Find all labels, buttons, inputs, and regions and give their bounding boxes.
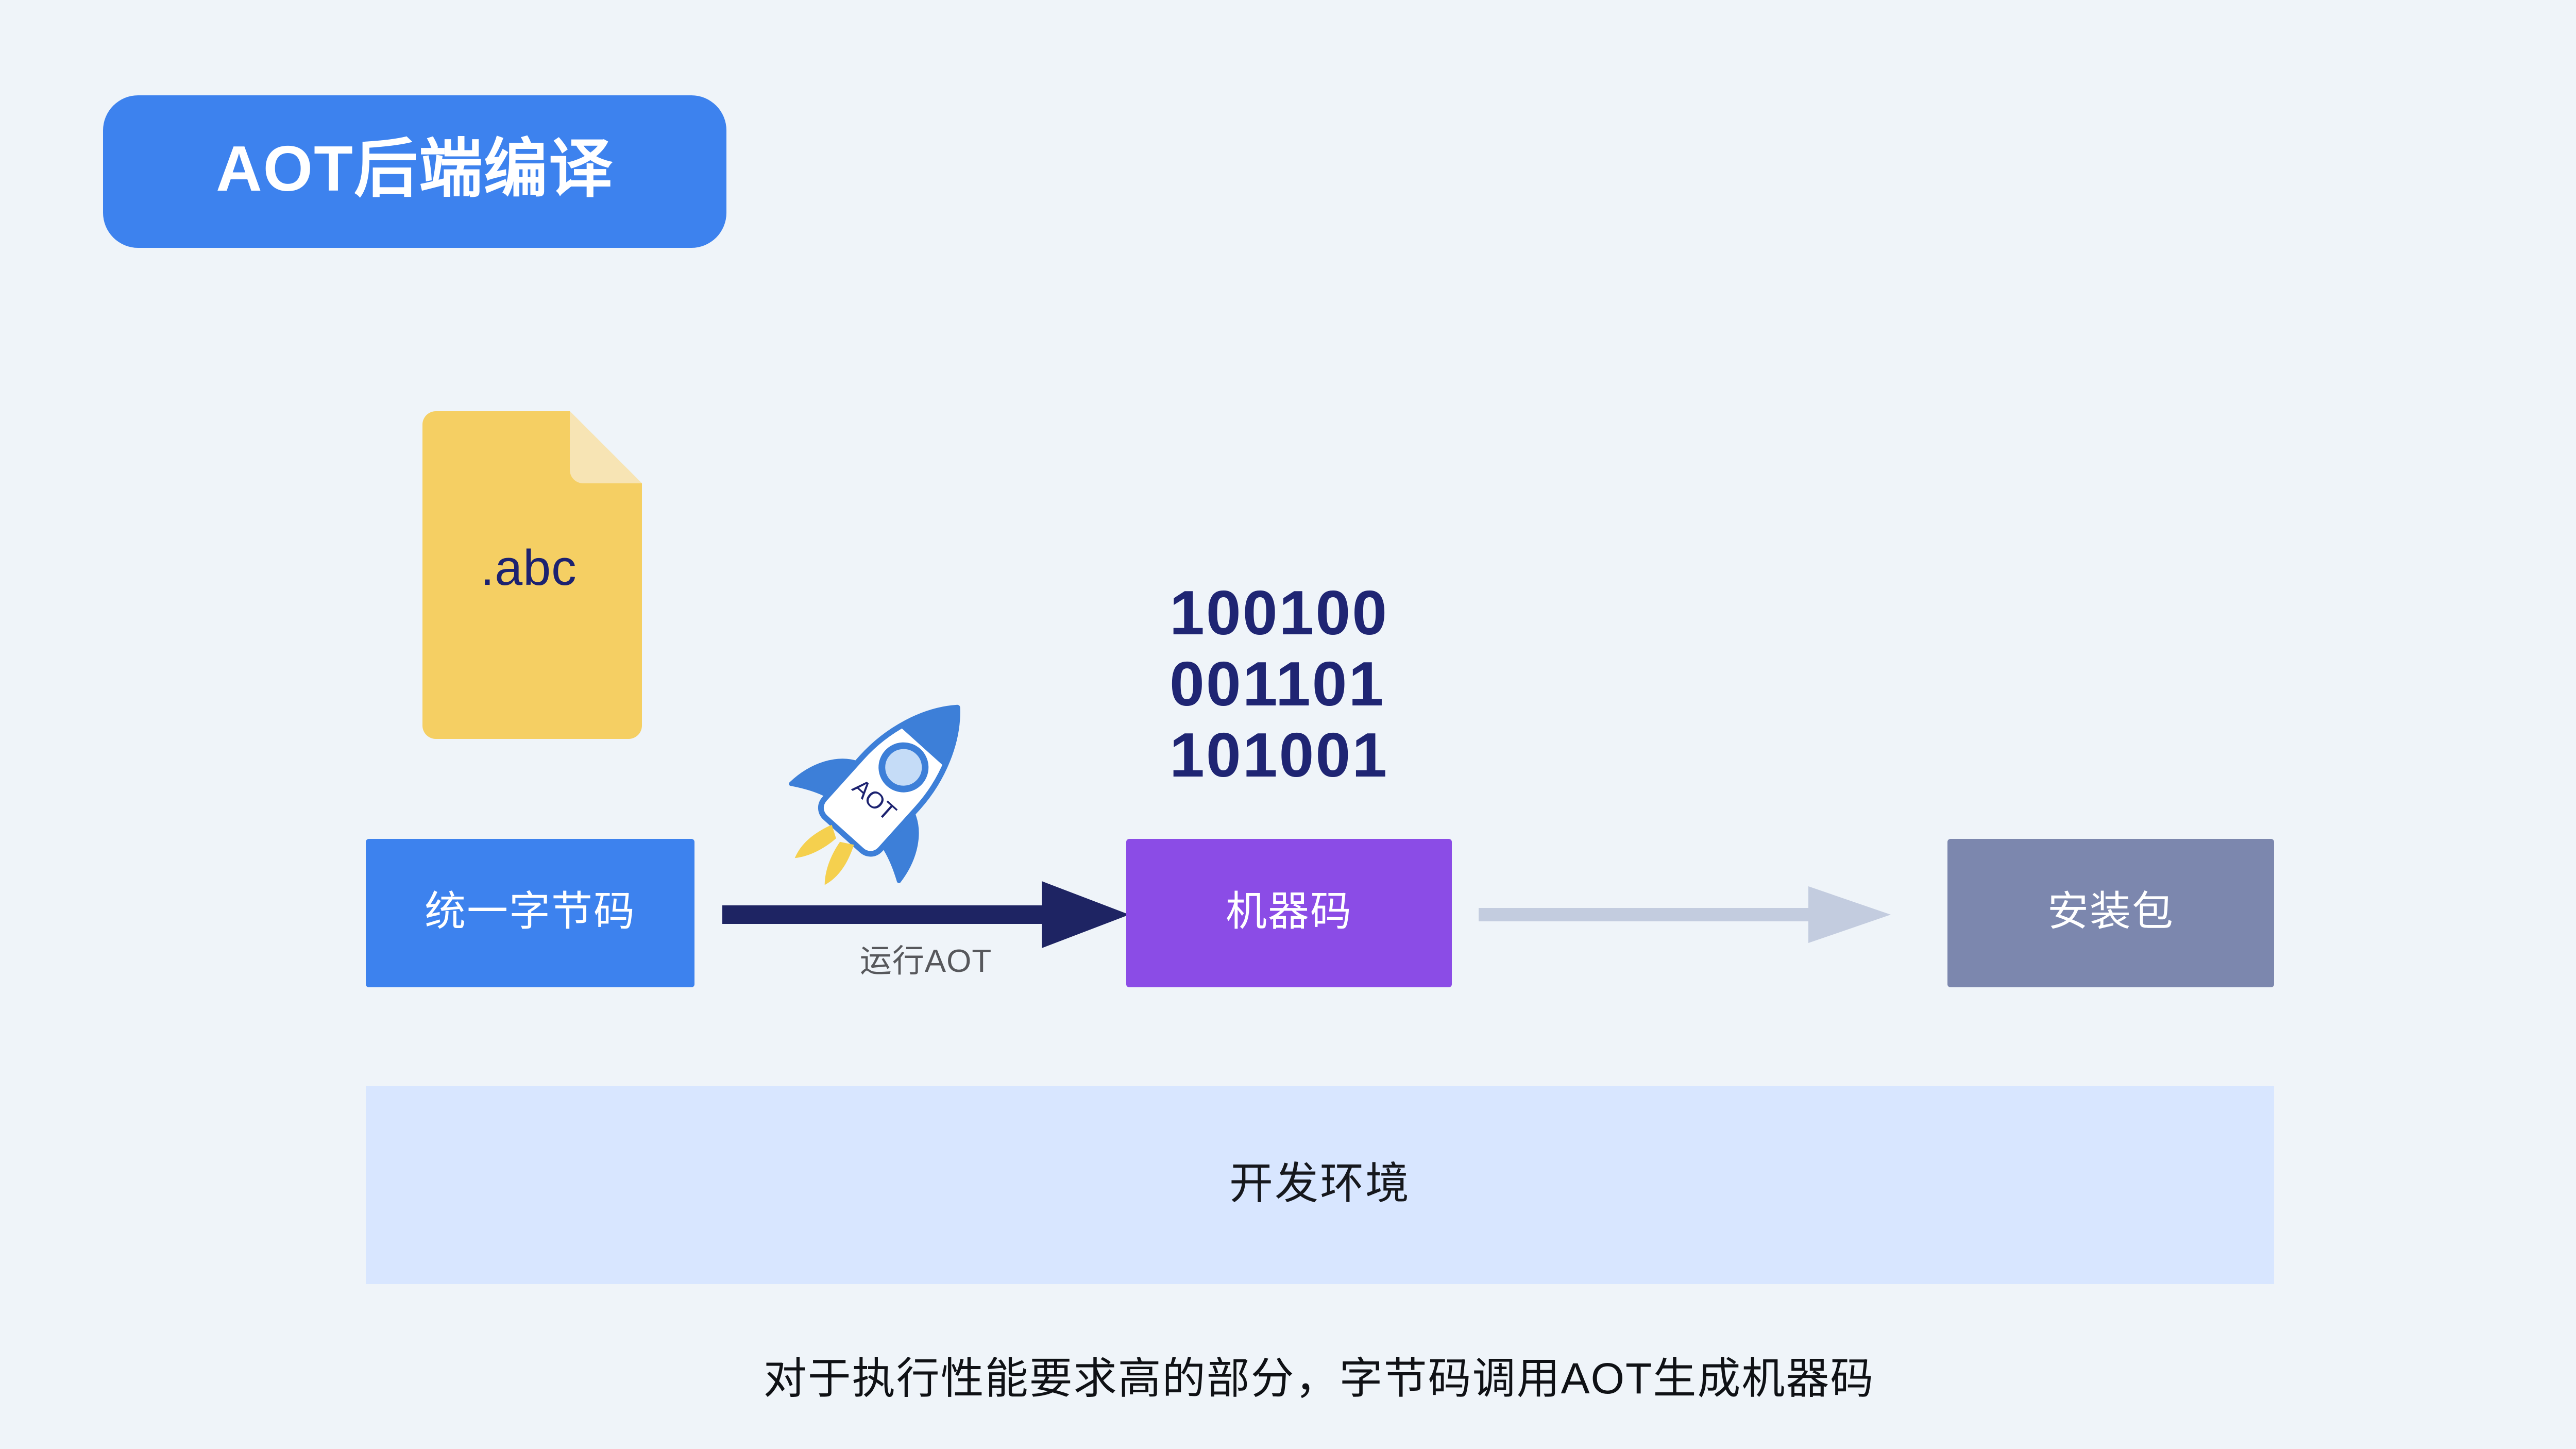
binary-code-block: 100100 001101 101001 — [1170, 577, 1458, 790]
arrow-run-aot-icon — [722, 876, 1129, 953]
diagram-canvas: AOT后端编译 .abc — [0, 0, 2576, 1449]
arrow-run-aot-label: 运行AOT — [722, 946, 1129, 978]
rocket-icon: AOT — [783, 670, 1005, 886]
caption-text: 对于执行性能要求高的部分，字节码调用AOT生成机器码 — [0, 1353, 2576, 1405]
title-badge-label: AOT后端编译 — [216, 137, 614, 201]
flow-box-install-package-label: 安装包 — [2047, 891, 2174, 935]
file-icon-label: .abc — [415, 543, 642, 593]
environment-bar: 开发环境 — [366, 1086, 2274, 1284]
binary-line: 100100 — [1170, 577, 1458, 648]
flow-box-machine-code[interactable]: 机器码 — [1126, 839, 1452, 987]
flow-box-machine-code-label: 机器码 — [1226, 891, 1352, 935]
environment-bar-label: 开发环境 — [1229, 1162, 1411, 1209]
binary-line: 001101 — [1170, 648, 1458, 719]
binary-line: 101001 — [1170, 719, 1458, 790]
title-badge: AOT后端编译 — [103, 95, 726, 248]
flow-box-install-package[interactable]: 安装包 — [1947, 839, 2274, 987]
arrow-to-package-icon — [1479, 876, 1891, 953]
flow-box-bytecode-label: 统一字节码 — [425, 891, 636, 935]
flow-box-bytecode[interactable]: 统一字节码 — [366, 839, 694, 987]
